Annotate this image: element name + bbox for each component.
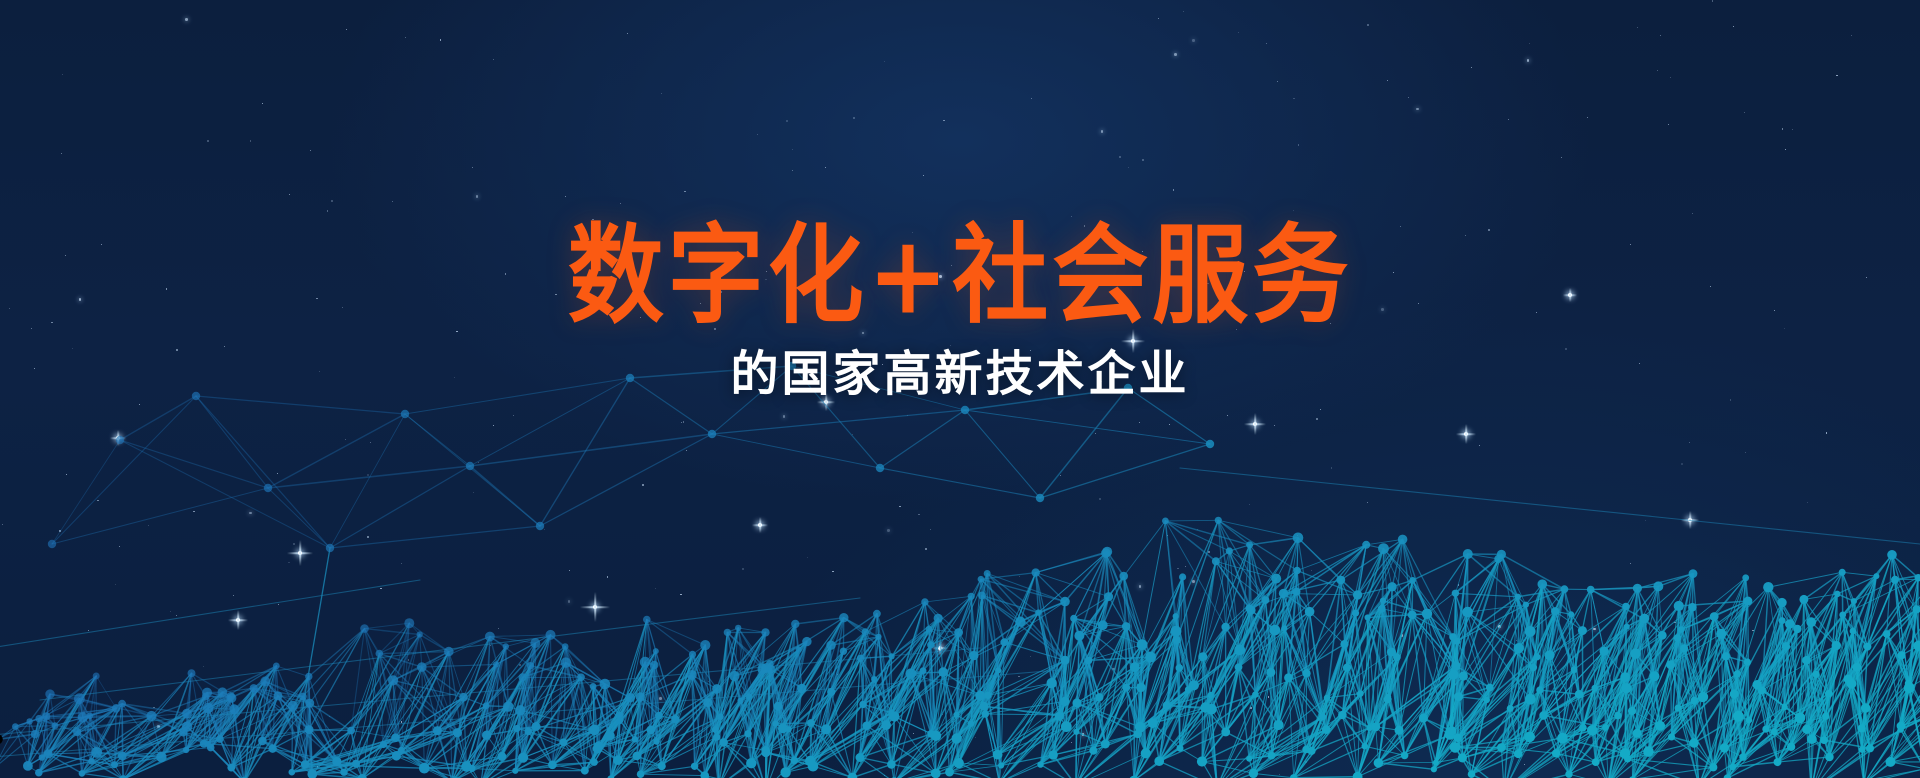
mesh-edge [0,739,28,766]
mesh-edge [594,715,620,730]
mesh-edge [1341,580,1361,694]
star-dot [1177,568,1179,570]
mesh-edge [1368,618,1388,700]
mesh-edge [552,765,584,771]
mesh-edge [1457,554,1501,641]
mesh-edge [1217,695,1255,778]
mesh-node [650,661,658,669]
mesh-edge [1703,601,1748,697]
mesh-edge [1692,607,1694,700]
mesh-edge [1345,549,1384,645]
star-dot [620,203,621,204]
mesh-edge [1076,667,1134,732]
mesh-node [288,701,298,711]
mesh-edge [766,724,776,753]
star-dot [913,733,914,734]
mesh-node [1753,680,1762,689]
mesh-edge [1249,672,1271,758]
mesh-edge [77,708,116,732]
mesh-node [485,632,495,642]
mesh-edge [1917,578,1919,610]
mesh-node [1247,606,1256,615]
mesh-edge [1436,758,1463,763]
mesh-node [1162,518,1169,525]
mesh-edge [1392,587,1412,615]
mesh-edge [1458,667,1534,738]
mesh-edge [1153,650,1240,723]
mesh-node [1575,690,1583,698]
mesh-edge [1530,631,1537,657]
mesh-node [1189,680,1199,690]
mesh-edge [186,727,187,750]
mesh-edge [183,696,206,732]
mesh-edge [708,703,715,730]
mesh-edge [222,692,234,709]
mesh-node [1074,631,1084,641]
mesh-edge [786,713,892,773]
mesh-edge [292,745,384,773]
mesh-edge [770,664,789,730]
mesh-edge [204,696,231,743]
mesh-edge [860,713,892,758]
mesh-edge [708,703,717,738]
mesh-edge [645,662,675,719]
mesh-edge [708,632,766,702]
mesh-edge [987,574,1004,643]
mesh-edge [1530,611,1555,631]
mesh-edge [1574,590,1591,670]
mesh-edge [988,683,1052,695]
mesh-node [404,618,414,628]
mesh-node [73,728,81,736]
mesh-edge [1627,607,1693,688]
mesh-node [1343,664,1351,672]
mesh-edge [950,715,957,772]
mesh-edge [262,741,344,772]
mesh-edge [1627,630,1682,689]
mesh-edge [1452,637,1453,731]
mesh-edge [220,666,276,739]
mesh-edge [1365,727,1376,746]
star-dot [1095,433,1096,434]
mesh-edge [1341,545,1366,580]
mesh-node [35,715,42,722]
mesh-edge [1434,666,1456,770]
mesh-edge [1413,580,1456,665]
mesh-edge [597,749,618,761]
mesh-edge [1637,630,1681,734]
mesh-node [589,725,600,736]
mesh-edge [305,764,424,768]
mesh-node [1212,557,1220,565]
mesh-edge [208,666,276,708]
mesh-node [1709,763,1717,771]
mesh-edge [1618,588,1638,715]
mesh-edge [1766,694,1829,729]
mesh-node [524,728,532,736]
mesh-edge [929,629,959,632]
mesh-node [1633,584,1642,593]
mesh-edge [472,727,536,769]
mesh-edge [1180,657,1203,749]
mesh-edge [749,697,766,751]
mesh-edge [1848,631,1853,679]
mesh-edge [1347,587,1392,668]
mesh-edge [1733,732,1775,767]
star-dot [1787,689,1789,691]
mesh-edge [1540,589,1565,690]
mesh-edge [208,739,220,744]
mesh-edge [775,645,831,723]
mesh-edge [1462,688,1489,758]
mesh-edge [211,748,232,768]
mesh-edge [393,623,409,680]
mesh-edge [79,699,151,716]
mesh-edge [1595,618,1642,688]
mesh-edge [1279,593,1284,725]
mesh-edge [344,750,401,772]
mesh-edge [1176,616,1189,689]
mesh-edge [1606,618,1643,727]
mesh-edge [1040,388,1128,498]
mesh-edge [1306,694,1360,750]
mesh-edge [1574,670,1583,728]
mesh-edge [1249,600,1265,608]
mesh-edge [1555,611,1579,694]
star-dot [1785,149,1786,150]
mesh-edge [1203,657,1206,708]
mesh-edge [1703,697,1713,767]
mesh-edge [925,596,971,602]
mesh-edge [1526,584,1542,605]
mesh-edge [693,654,716,729]
star-dot [62,74,63,75]
mesh-edge [490,637,508,707]
mesh-edge [695,676,735,766]
mesh-edge [490,635,551,637]
mesh-edge [826,614,877,730]
mesh-edge [1036,573,1039,613]
mesh-edge [1356,613,1370,728]
mesh-edge [0,739,42,757]
mesh-edge [1778,757,1830,762]
star-dot [329,716,330,717]
mesh-edge [789,632,866,729]
mesh-edge [1249,751,1311,759]
mesh-edge [1684,601,1748,648]
mesh-edge [695,766,719,778]
mesh-edge [1632,630,1681,712]
mesh-node [591,759,598,766]
mesh-edge [183,708,208,733]
mesh-edge [1202,695,1211,761]
mesh-edge [1757,594,1837,685]
mesh-edge [863,704,886,725]
mesh-node [791,620,799,628]
mesh-edge [470,466,540,526]
mesh-edge [472,756,502,768]
mesh-node [401,410,409,418]
mesh-edge [472,666,530,769]
mesh-edge [330,466,470,548]
mesh-edge [1564,589,1571,614]
mesh-edge [1608,716,1618,778]
mesh-edge [1733,747,1791,767]
mesh-node [1525,626,1536,637]
mesh-edge [1901,682,1920,730]
mesh-edge [1504,667,1533,778]
mesh-edge [594,698,630,763]
mesh-edge [1211,695,1226,732]
mesh-edge [984,706,1001,765]
mesh-edge [891,717,894,765]
mesh-edge [959,706,984,763]
mesh-edge [863,618,938,704]
mesh-edge [1544,611,1556,715]
mesh-edge [1255,612,1309,695]
mesh-edge [771,669,776,723]
mesh-edge [1074,553,1106,618]
mesh-edge [523,643,535,758]
mesh-edge [1727,757,1743,778]
mesh-edge [1694,716,1738,743]
mesh-node [461,761,471,771]
mesh-edge [1762,594,1837,691]
mesh-edge [1249,756,1271,759]
mesh-edge [42,708,116,757]
mesh-edge [1569,728,1583,774]
mesh-edge [1694,701,1699,778]
mesh-edge [517,729,528,732]
mesh-edge [778,706,783,728]
mesh-edge [748,632,766,733]
mesh-edge [1427,614,1450,735]
mesh-edge [925,602,959,633]
mesh-edge [1501,554,1530,631]
mesh-edge [1649,665,1671,752]
mesh-edge [83,708,116,717]
mesh-edge [1848,679,1862,728]
mesh-node [1851,598,1857,604]
mesh-edge [1727,685,1757,778]
mesh-edge [981,579,1004,642]
mesh-edge [1188,627,1225,690]
star-dot [1630,563,1631,564]
mesh-edge [1434,697,1459,770]
mesh-edge [1458,699,1531,738]
mesh-edge [1636,607,1693,653]
mesh-edge [1743,729,1766,757]
mesh-edge [1887,634,1909,684]
mesh-edge [1368,609,1382,618]
mesh-edge [1606,618,1645,727]
mesh-edge [1785,629,1798,707]
mesh-edge [1671,665,1699,778]
mesh-node [719,738,728,747]
mesh-edge [1450,676,1464,735]
mesh-edge [1342,715,1369,728]
mesh-edge [1504,753,1556,778]
mesh-edge [481,731,528,778]
mesh-edge [0,348,35,734]
mesh-edge [303,697,310,704]
mesh-edge [1159,685,1194,761]
star-dot [66,474,67,475]
mesh-edge [536,647,565,727]
mesh-edge [1604,606,1626,651]
mesh-node [873,610,881,618]
star-dot [1082,733,1085,736]
mesh-edge [48,726,55,754]
mesh-edge [950,766,1002,773]
mesh-edge [472,677,523,768]
mesh-edge [517,727,536,729]
mesh-node [42,712,50,720]
mesh-edge [936,763,959,773]
mesh-edge [472,729,517,769]
mesh-edge [1501,709,1510,748]
mesh-edge [1124,521,1166,576]
mesh-edge [1829,594,1838,694]
mesh-edge [231,749,272,768]
mesh-node [1600,647,1609,656]
mesh-edge [276,666,309,677]
star-dot [401,721,403,723]
star-dot [1174,53,1177,56]
mesh-edge [1468,554,1499,559]
mesh-edge [1862,655,1901,749]
mesh-edge [77,716,151,732]
mesh-edge [362,680,393,778]
star-dot [408,659,409,660]
mesh-edge [1608,688,1626,778]
mesh-node [876,464,884,472]
star-dot [708,681,709,682]
mesh-edge [813,729,826,766]
star-dot [1498,625,1501,628]
mesh-edge [956,695,988,715]
mesh-edge [695,669,763,766]
mesh-node [1246,756,1252,762]
mesh-edge [1501,655,1549,747]
mesh-edge [0,721,30,739]
mesh-node [633,752,642,761]
mesh-edge [1405,666,1456,756]
mesh-edge [1358,587,1393,595]
mesh-edge [520,710,523,757]
mesh-edge [528,731,552,764]
mesh-node [562,643,569,650]
mesh-edge [1854,555,1892,601]
mesh-node [640,657,651,668]
mesh-edge [312,772,344,774]
star-sparkle [580,592,610,622]
mesh-edge [1468,559,1499,612]
mesh-edge [1376,614,1427,727]
mesh-edge [1637,588,1662,635]
mesh-edge [1550,655,1563,738]
mesh-edge [1249,725,1278,759]
star-sparkle [932,640,948,656]
mesh-edge [487,707,509,736]
mesh-node [527,662,534,669]
mesh-edge [337,762,362,778]
mesh-edge [1455,593,1517,597]
mesh-node [1839,612,1846,619]
mesh-edge [1427,614,1453,637]
mesh-node [1887,550,1897,560]
mesh-edge [1562,738,1595,762]
mesh-edge [1679,606,1694,701]
mesh-node [613,755,623,765]
mesh-edge [692,645,706,675]
mesh-edge [1284,612,1309,629]
mesh-edge [1279,629,1285,726]
mesh-edge [1326,698,1327,730]
mesh-edge [959,633,981,696]
mesh-edge [1518,728,1583,754]
mesh-edge [1378,755,1404,763]
mesh-edge [1455,593,1463,676]
mesh-edge [536,727,563,743]
mesh-node [1653,581,1663,591]
mesh-node [352,760,360,768]
star-dot [1173,189,1174,190]
mesh-edge [1412,615,1456,666]
mesh-edge [775,651,843,723]
mesh-edge [620,620,647,721]
mesh-edge [1368,539,1403,617]
mesh-edge [599,684,605,746]
mesh-edge [647,620,693,655]
mesh-edge [1134,687,1141,778]
star-dot [884,775,885,776]
mesh-edge [211,748,245,778]
mesh-edge [206,696,232,698]
mesh-edge [585,736,610,771]
mesh-edge [705,645,716,737]
mesh-node [889,711,899,721]
mesh-edge [988,613,1038,696]
mesh-edge [1510,631,1530,708]
mesh-edge [1180,685,1194,748]
mesh-edge [486,647,506,706]
mesh-edge [231,741,262,768]
mesh-node [616,717,623,724]
mesh-edge [1714,617,1747,663]
mesh-edge [1383,601,1397,658]
mesh-edge [695,766,705,775]
mesh-edge [384,745,402,751]
mesh-node [1912,605,1920,613]
mesh-edge [1864,708,1866,778]
mesh-node [1624,755,1631,762]
mesh-node [881,720,891,730]
mesh-edge [204,739,220,744]
mesh-edge [693,654,709,702]
mesh-edge [1762,646,1786,690]
mesh-edge [738,628,765,750]
mesh-edge [1368,618,1397,658]
mesh-edge [1165,521,1225,627]
mesh-edge [1791,646,1836,747]
mesh-edge [1542,584,1574,670]
mesh-edge [1678,648,1684,708]
mesh-edge [641,737,717,774]
mesh-node [1281,625,1287,631]
mesh-edge [1848,667,1857,679]
mesh-node [1568,611,1574,617]
